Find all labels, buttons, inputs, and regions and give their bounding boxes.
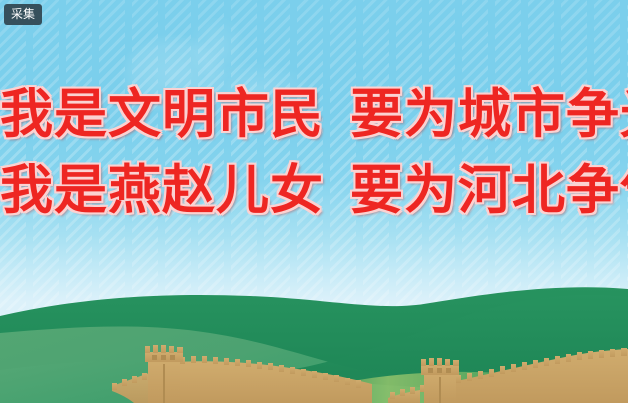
- headline-line-2-right: 要为河北争气: [350, 160, 628, 221]
- headline-line-1-left: 我是文明市民: [0, 84, 324, 145]
- headline-line-1: 我是文明市民要为城市争光: [0, 88, 628, 141]
- poster-canvas: 我是文明市民要为城市争光 我是燕赵儿女要为河北争气 采集: [0, 0, 628, 403]
- headline-block: 我是文明市民要为城市争光 我是燕赵儿女要为河北争气: [0, 88, 628, 217]
- capture-button[interactable]: 采集: [4, 4, 42, 25]
- headline-line-2: 我是燕赵儿女要为河北争气: [0, 164, 628, 217]
- headline-line-1-right: 要为城市争光: [350, 84, 628, 145]
- headline-line-2-left: 我是燕赵儿女: [0, 160, 324, 221]
